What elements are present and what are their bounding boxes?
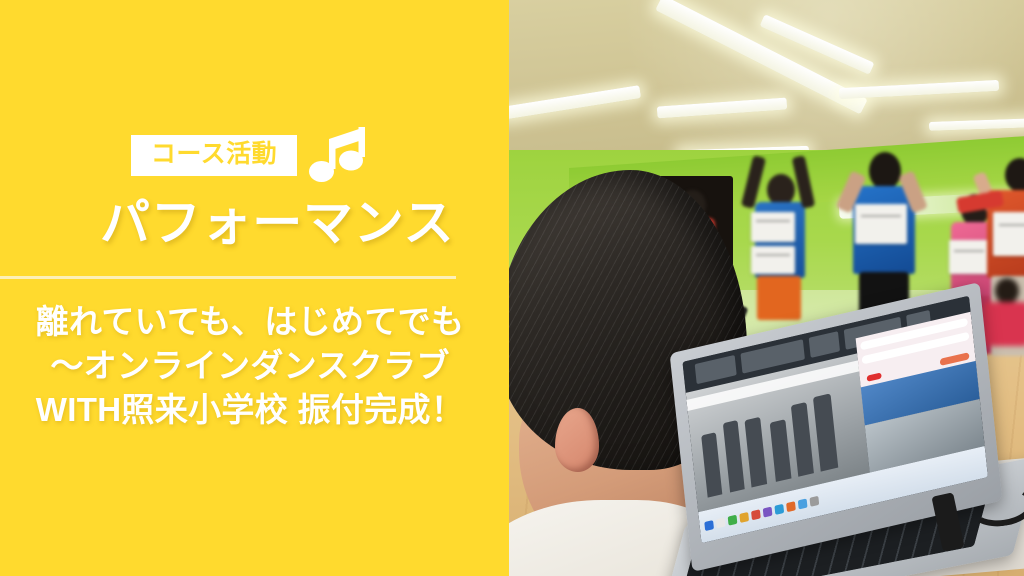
taskbar-icon[interactable] — [774, 504, 784, 515]
badge-row: コース活動 — [131, 122, 369, 189]
course-category-label: コース活動 — [151, 142, 277, 167]
taskbar-icon[interactable] — [739, 512, 749, 523]
taskbar-icon[interactable] — [810, 496, 820, 507]
subtitle-line-3: WITH照来小学校 振付完成！ — [0, 388, 500, 432]
page-title: パフォーマンス — [100, 196, 454, 251]
title-divider — [0, 276, 456, 279]
taskbar-icon[interactable] — [728, 515, 738, 526]
taskbar-icon[interactable] — [751, 509, 761, 520]
promo-banner: コース活動 パフォーマンス 離れていても、はじめてでも 〜オンラインダンスクラブ… — [0, 0, 1024, 576]
subtitle-line-2: 〜オンラインダンスクラブ — [0, 344, 500, 388]
taskbar-icon[interactable] — [798, 499, 808, 510]
music-note-icon — [309, 122, 369, 189]
photo-scene — [509, 0, 1024, 576]
taskbar-icon[interactable] — [704, 520, 714, 531]
hero-photo — [509, 0, 1024, 576]
youtube-logo-icon — [867, 372, 881, 382]
taskbar-icon[interactable] — [763, 507, 773, 518]
taskbar-icon[interactable] — [716, 517, 726, 528]
subtitle-block: 離れていても、はじめてでも 〜オンラインダンスクラブ WITH照来小学校 振付完… — [0, 300, 500, 433]
left-yellow-panel: コース活動 パフォーマンス 離れていても、はじめてでも 〜オンラインダンスクラブ… — [0, 0, 509, 576]
taskbar-icon[interactable] — [786, 501, 796, 512]
participant-ear — [555, 408, 599, 472]
laptop — [669, 318, 1024, 576]
course-category-badge: コース活動 — [131, 135, 297, 176]
subtitle-line-1: 離れていても、はじめてでも — [0, 300, 500, 344]
